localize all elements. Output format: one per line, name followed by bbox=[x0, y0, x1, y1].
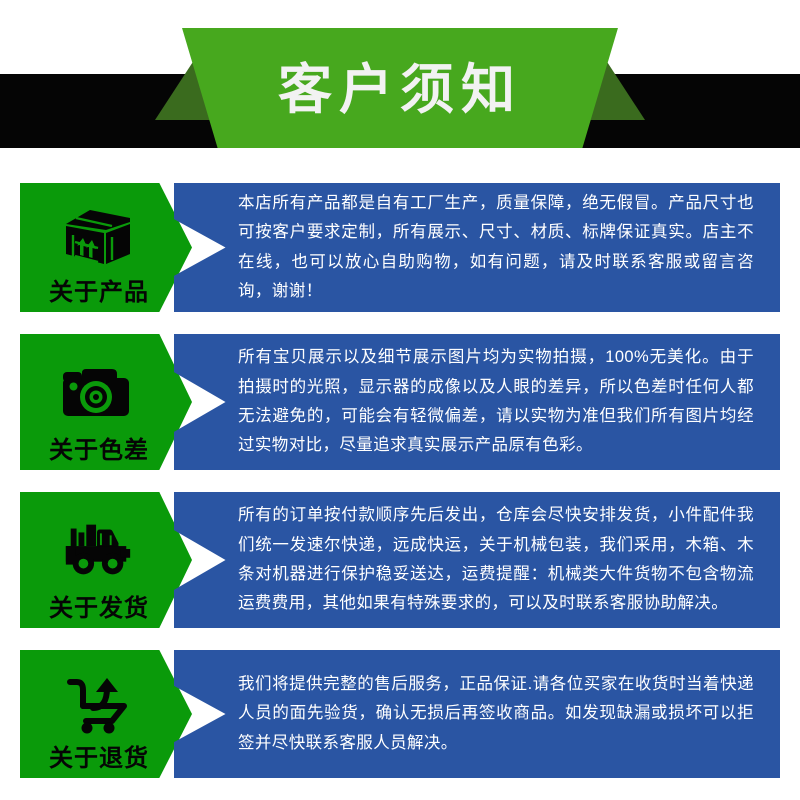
text-panel-returns: 我们将提供完整的售后服务，正品保证.请各位买家在收货时当着快递人员的面先验货，确… bbox=[174, 650, 780, 778]
icon-box-color: 关于色差 bbox=[20, 334, 192, 470]
text-panel-product: 本店所有产品都是自有工厂生产，质量保障，绝无假冒。产品尺寸也可按客户要求定制，所… bbox=[174, 183, 780, 312]
icon-box-product: 关于产品 bbox=[20, 183, 192, 312]
icon-label-color: 关于色差 bbox=[49, 439, 149, 470]
icon-label-shipping: 关于发货 bbox=[49, 597, 149, 628]
icon-label-product: 关于产品 bbox=[49, 281, 149, 312]
return-cart-icon bbox=[60, 658, 136, 747]
notice-row-color: 关于色差 所有宝贝展示以及细节展示图片均为实物拍摄，100%无美化。由于拍摄时的… bbox=[20, 334, 780, 470]
notice-text-returns: 我们将提供完整的售后服务，正品保证.请各位买家在收货时当着快递人员的面先验货，确… bbox=[174, 670, 780, 758]
text-panel-shipping: 所有的订单按付款顺序先后发出，仓库会尽快安排发货，小件配件我们统一发速尔快递，远… bbox=[174, 492, 780, 628]
page-title: 客户须知 bbox=[278, 63, 522, 117]
notice-row-product: 关于产品 本店所有产品都是自有工厂生产，质量保障，绝无假冒。产品尺寸也可按客户要… bbox=[20, 183, 780, 312]
icon-label-returns: 关于退货 bbox=[49, 747, 149, 778]
ribbon-banner: 客户须知 bbox=[172, 28, 628, 148]
camera-icon bbox=[60, 342, 136, 439]
header-banner: 客户须知 bbox=[0, 0, 800, 150]
forklift-truck-icon bbox=[60, 500, 136, 597]
notice-row-shipping: 关于发货 所有的订单按付款顺序先后发出，仓库会尽快安排发货，小件配件我们统一发速… bbox=[20, 492, 780, 628]
notice-row-returns: 关于退货 我们将提供完整的售后服务，正品保证.请各位买家在收货时当着快递人员的面… bbox=[20, 650, 780, 778]
icon-box-returns: 关于退货 bbox=[20, 650, 192, 778]
notice-text-product: 本店所有产品都是自有工厂生产，质量保障，绝无假冒。产品尺寸也可按客户要求定制，所… bbox=[174, 189, 780, 306]
carton-box-icon bbox=[60, 191, 136, 281]
notice-text-shipping: 所有的订单按付款顺序先后发出，仓库会尽快安排发货，小件配件我们统一发速尔快递，远… bbox=[174, 501, 780, 618]
text-panel-color: 所有宝贝展示以及细节展示图片均为实物拍摄，100%无美化。由于拍摄时的光照，显示… bbox=[174, 334, 780, 470]
notice-text-color: 所有宝贝展示以及细节展示图片均为实物拍摄，100%无美化。由于拍摄时的光照，显示… bbox=[174, 343, 780, 460]
icon-box-shipping: 关于发货 bbox=[20, 492, 192, 628]
